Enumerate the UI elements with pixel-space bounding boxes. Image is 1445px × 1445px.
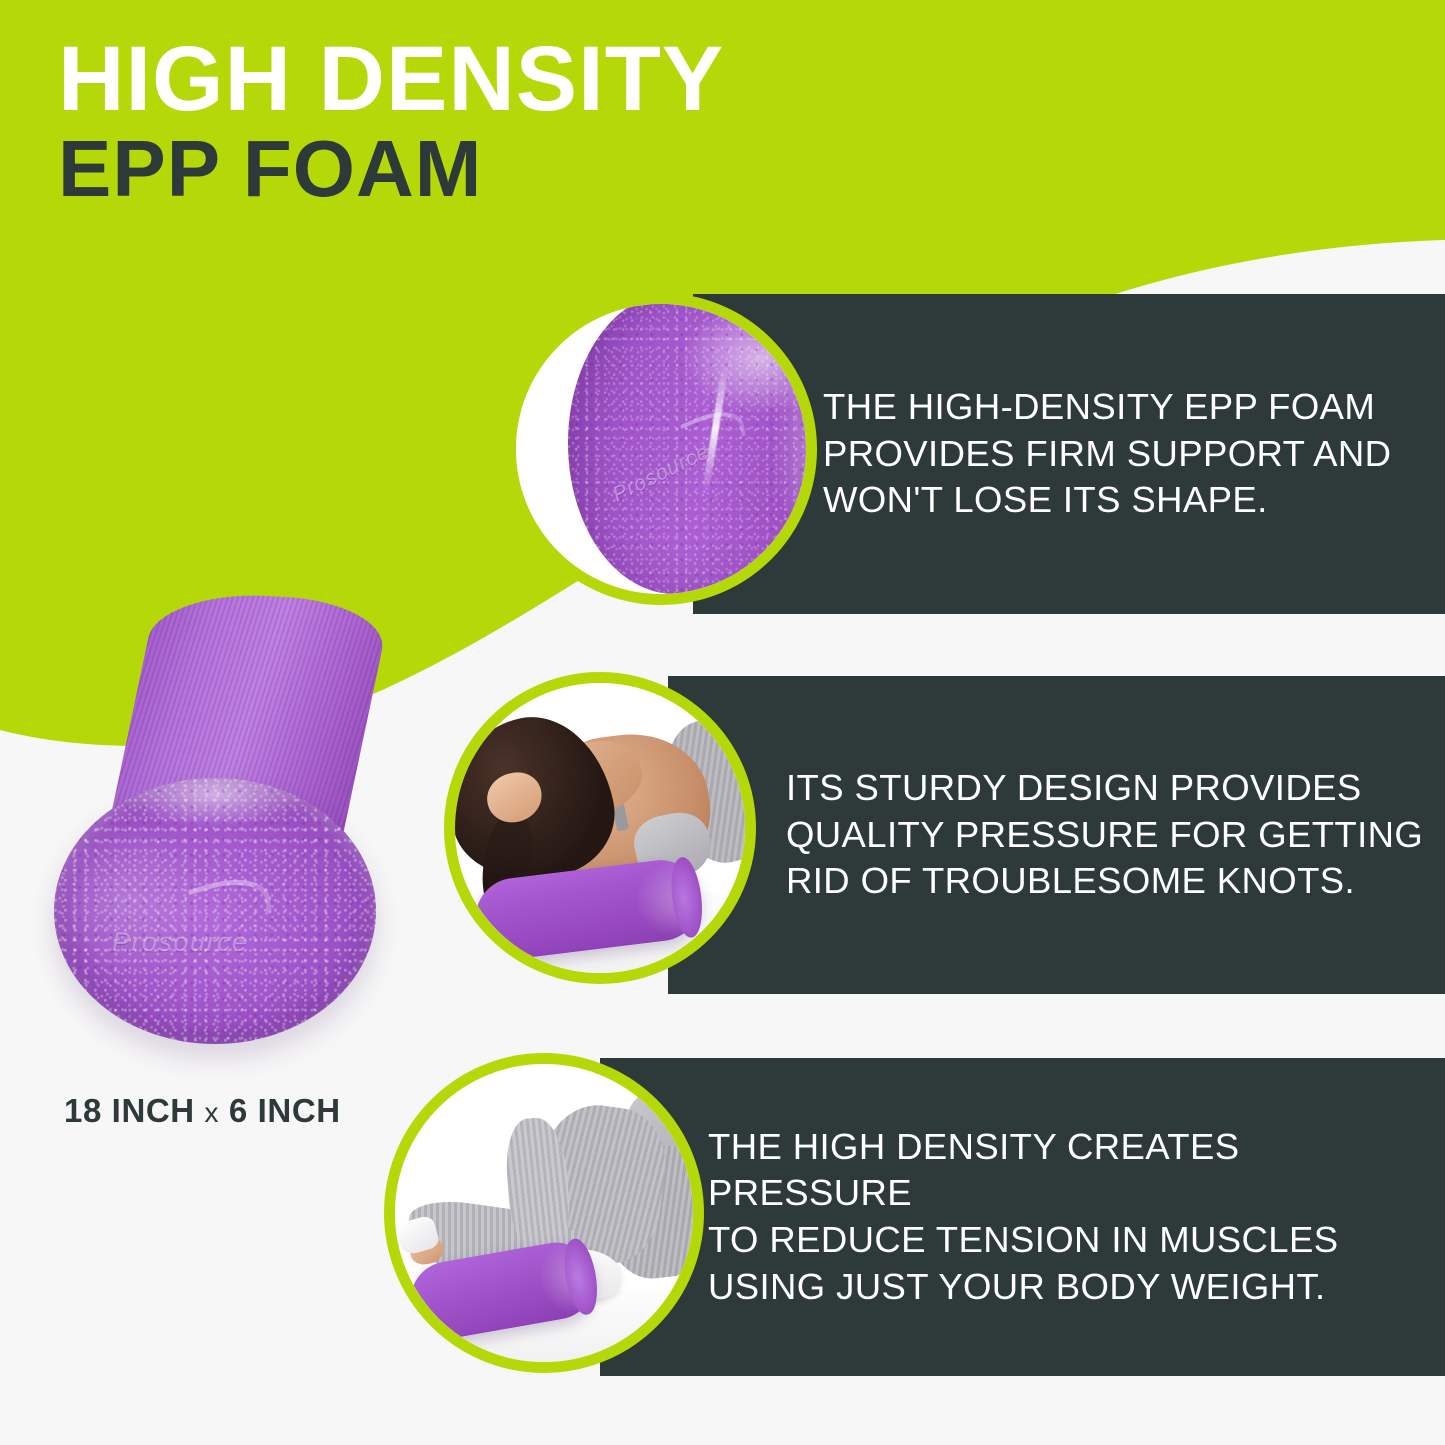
feature-text-body-weight: THE HIGH DENSITY CREATES PRESSURE TO RED…: [708, 1124, 1445, 1311]
feature-image-calf-roll: [384, 1053, 704, 1373]
badge-photo-backdrop: [395, 1064, 693, 1362]
roller-end-closeup-icon: Prosource: [568, 293, 817, 594]
feature-image-foam-roller-end: Prosource: [505, 293, 817, 605]
feature-panel-body-weight: THE HIGH DENSITY CREATES PRESSURE TO RED…: [600, 1058, 1445, 1376]
badge-photo-backdrop: [455, 683, 745, 973]
dimension-diameter: 6 INCH: [229, 1092, 341, 1129]
feature-text-firm-support: THE HIGH-DENSITY EPP FOAM PROVIDES FIRM …: [823, 384, 1391, 524]
product-dimensions: 18 INCH x 6 INCH: [64, 1092, 341, 1130]
feature-text-sturdy-design: ITS STURDY DESIGN PROVIDES QUALITY PRESS…: [786, 765, 1423, 905]
brand-emboss-label: Prosource: [112, 927, 249, 958]
product-infographic: HIGH DENSITY EPP FOAM THE HIGH-DENSITY E…: [0, 0, 1445, 1445]
brand-swoosh-icon: [188, 868, 271, 935]
dimension-length: 18 INCH: [64, 1092, 195, 1129]
page-title: HIGH DENSITY EPP FOAM: [58, 34, 724, 209]
headline-line-1: HIGH DENSITY: [58, 34, 724, 124]
badge-photo-backdrop: Prosource: [516, 304, 806, 594]
hero-product-foam-roller: Prosource: [48, 596, 400, 1048]
headline-line-2: EPP FOAM: [58, 130, 724, 208]
feature-panel-sturdy-design: ITS STURDY DESIGN PROVIDES QUALITY PRESS…: [668, 676, 1445, 994]
roller-end-face: Prosource: [54, 778, 376, 1044]
feature-image-upper-back-roll: [444, 672, 756, 984]
dimension-separator: x: [205, 1097, 220, 1128]
